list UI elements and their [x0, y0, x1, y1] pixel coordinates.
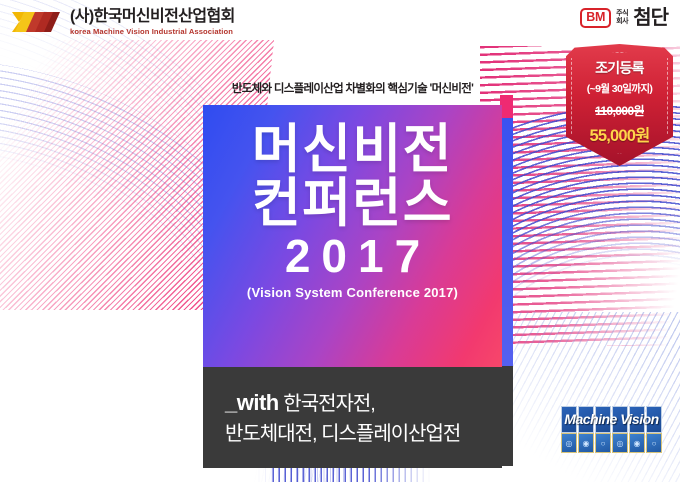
poster-subtitle: (Vision System Conference 2017)	[247, 285, 458, 300]
background-hatch-bottom-right	[480, 312, 680, 482]
mv-lens-icon: ◉	[578, 433, 594, 453]
ribbon-content: 조기등록 (~9월 30일까지) 110,000원 55,000원	[566, 44, 673, 166]
poster-title-line-2: 컨퍼런스	[252, 177, 453, 231]
mv-lens-icon: ◎	[561, 433, 577, 453]
bm-badge: BM	[580, 8, 611, 28]
poster-footer-line-2: 반도체대전, 디스플레이산업전	[225, 421, 502, 447]
poster-footer-line-1: _with 한국전자전,	[225, 388, 502, 417]
ribbon-original-price: 110,000원	[595, 102, 644, 119]
page-header: (사)한국머신비전산업협회 korea Machine Vision Indus…	[0, 0, 680, 48]
poster-footer-line-1-rest: 한국전자전,	[279, 393, 375, 415]
ribbon-discounted-price: 55,000원	[589, 122, 649, 146]
poster-year: 2017	[274, 232, 431, 280]
association-name-ko: (사)한국머신비전산업협회	[70, 9, 235, 25]
association-logo[interactable]: (사)한국머신비전산업협회 korea Machine Vision Indus…	[10, 8, 235, 36]
machine-vision-wordmark: Machine Vision	[563, 411, 660, 427]
sponsor-subtext: 주식 회사	[616, 10, 628, 26]
poster-tagline: 반도체와 디스플레이산업 차별화의 핵심기술 '머신비전'	[203, 80, 502, 96]
poster-title-block: 머신비전 컨퍼런스 2017 (Vision System Conference…	[203, 105, 502, 367]
mv-badge-bottom-tiles: ◎ ◉ ○ ◎ ◉ ○	[561, 433, 662, 453]
association-name-en: korea Machine Vision Industrial Associat…	[70, 28, 235, 36]
kmvia-chevron-logo-icon	[10, 8, 62, 36]
poster-title-line-1: 머신비전	[252, 123, 453, 177]
conference-poster[interactable]: 머신비전 컨퍼런스 2017 (Vision System Conference…	[203, 105, 502, 468]
mv-lens-icon: ◎	[612, 433, 628, 453]
poster-footer: _with 한국전자전, 반도체대전, 디스플레이산업전	[203, 367, 502, 468]
sponsor-subtext-line2: 회사	[616, 18, 628, 26]
mv-lens-icon: ○	[595, 433, 611, 453]
association-text: (사)한국머신비전산업협회 korea Machine Vision Indus…	[70, 8, 235, 36]
machine-vision-expo-badge[interactable]: Machine Vision ◎ ◉ ○ ◎ ◉ ○	[561, 406, 662, 453]
mv-lens-icon: ○	[646, 433, 662, 453]
sponsor-logo[interactable]: BM 주식 회사 첨단	[580, 8, 668, 28]
sponsor-subtext-line1: 주식	[616, 10, 628, 18]
poster-footer-with-label: _with	[225, 390, 279, 415]
page-root: (사)한국머신비전산업협회 korea Machine Vision Indus…	[0, 0, 680, 482]
ribbon-period: (~9월 30일까지)	[587, 81, 653, 96]
ribbon-title: 조기등록	[595, 58, 644, 78]
sponsor-name: 첨단	[633, 8, 668, 28]
early-registration-price-ribbon[interactable]: 조기등록 (~9월 30일까지) 110,000원 55,000원	[566, 44, 673, 166]
mv-lens-icon: ◉	[629, 433, 645, 453]
